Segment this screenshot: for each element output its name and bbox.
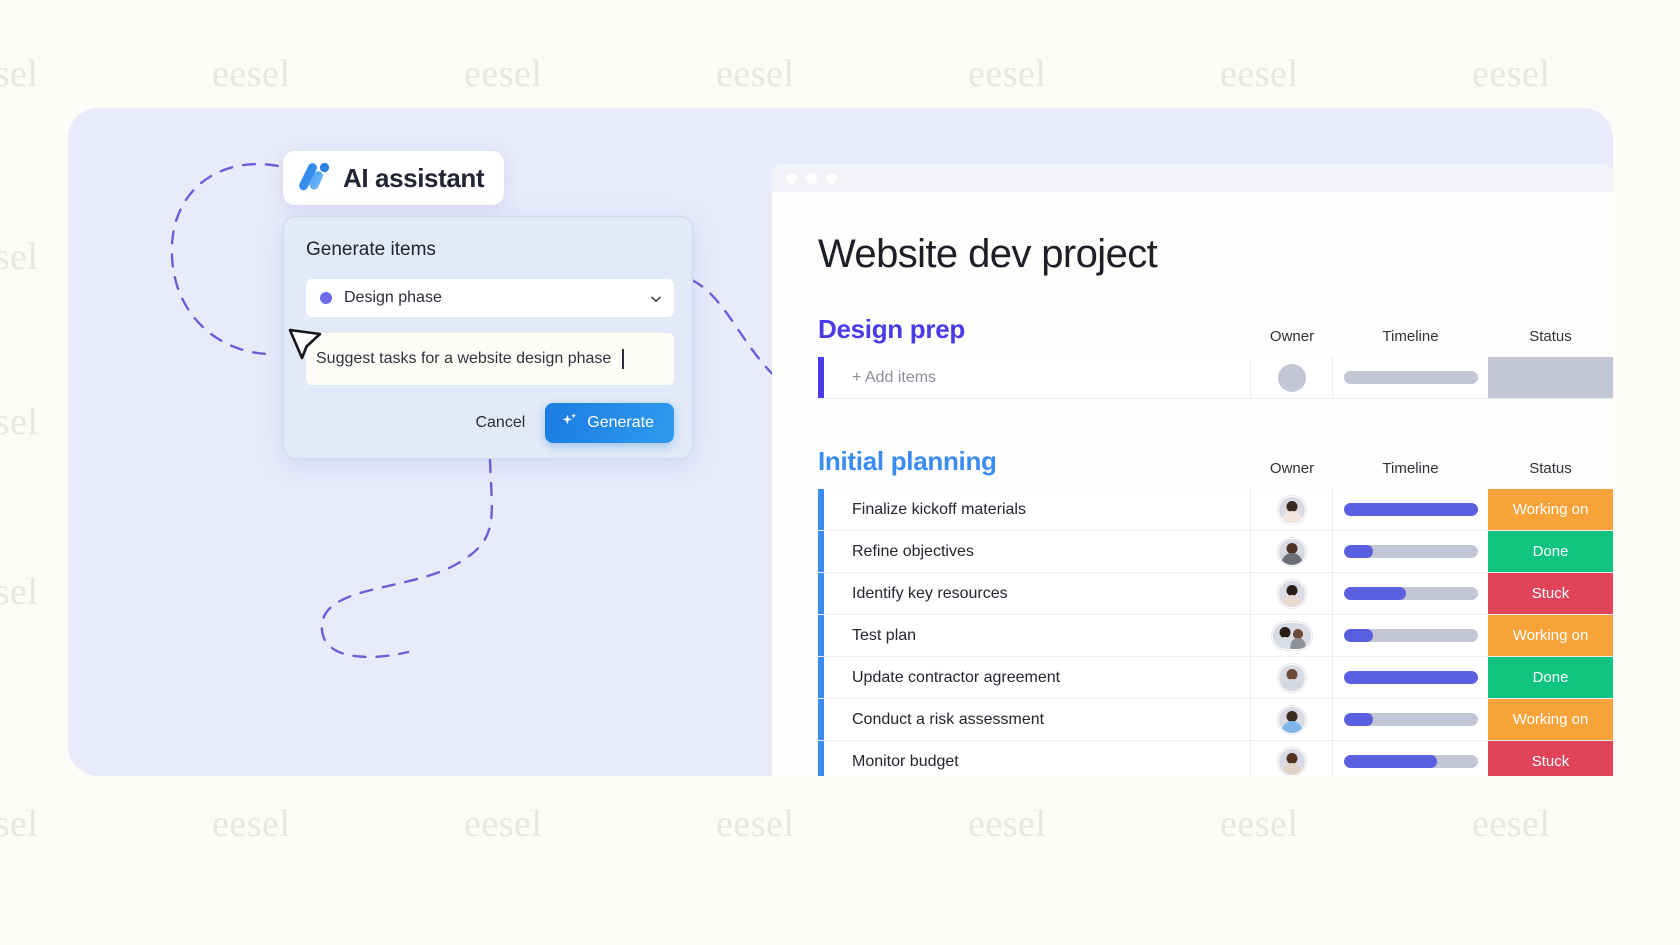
column-header-timeline[interactable]: Timeline <box>1333 328 1488 345</box>
watermark-text: eesel <box>0 400 38 444</box>
column-header-status[interactable]: Status <box>1488 328 1613 345</box>
table-row[interactable]: Refine objectivesDone <box>818 531 1613 573</box>
timeline-track <box>1344 755 1478 768</box>
timeline-track <box>1344 587 1478 600</box>
avatar <box>1278 706 1306 734</box>
watermark-text: eesel <box>464 52 542 96</box>
group-color-dot <box>320 292 332 304</box>
owner-cell[interactable] <box>1251 699 1333 740</box>
column-header-owner[interactable]: Owner <box>1251 328 1333 345</box>
panel-actions: Cancel Generate <box>306 403 674 443</box>
watermark-text: eesel <box>968 802 1046 846</box>
task-name[interactable]: Update contractor agreement <box>824 657 1251 698</box>
page-title: Website dev project <box>818 232 1613 277</box>
project-board-window: Website dev project Design prepOwnerTime… <box>772 164 1613 776</box>
watermark-text: eesel <box>0 570 38 614</box>
watermark-text: eesel <box>716 52 794 96</box>
timeline-cell[interactable] <box>1333 699 1488 740</box>
status-badge[interactable]: Working on <box>1488 699 1613 740</box>
window-dot-minimize-icon[interactable] <box>806 173 817 184</box>
avatar <box>1278 496 1306 524</box>
window-dot-maximize-icon[interactable] <box>826 173 837 184</box>
group-select-value: Design phase <box>344 289 638 307</box>
status-badge[interactable]: Working on <box>1488 615 1613 656</box>
table-row[interactable]: + Add items <box>818 357 1613 399</box>
timeline-cell[interactable] <box>1333 489 1488 530</box>
board-group: Initial planningOwnerTimelineStatusFinal… <box>818 447 1613 776</box>
owner-cell[interactable] <box>1251 657 1333 698</box>
group-header: Initial planningOwnerTimelineStatus <box>818 447 1613 477</box>
prompt-input-value: Suggest tasks for a website design phase <box>316 350 611 368</box>
watermark-text: eesel <box>968 52 1046 96</box>
watermark-text: eesel <box>0 52 38 96</box>
table-row[interactable]: Conduct a risk assessmentWorking on <box>818 699 1613 741</box>
table-row[interactable]: Update contractor agreementDone <box>818 657 1613 699</box>
watermark-text: eesel <box>1220 802 1298 846</box>
status-badge[interactable]: Done <box>1488 657 1613 698</box>
watermark-text: eesel <box>0 802 38 846</box>
avatar <box>1278 748 1306 776</box>
text-caret <box>622 349 624 369</box>
timeline-cell[interactable] <box>1333 657 1488 698</box>
group-name[interactable]: Initial planning <box>818 446 997 477</box>
task-name[interactable]: Identify key resources <box>824 573 1251 614</box>
generate-button-label: Generate <box>587 414 654 432</box>
watermark-text: eesel <box>212 52 290 96</box>
avatar <box>1278 538 1306 566</box>
window-dot-close-icon[interactable] <box>786 173 797 184</box>
add-items-button[interactable]: + Add items <box>824 357 1251 398</box>
watermark-text: eesel <box>212 802 290 846</box>
group-header: Design prepOwnerTimelineStatus <box>818 315 1613 345</box>
table-row[interactable]: Monitor budgetStuck <box>818 741 1613 776</box>
avatar <box>1272 622 1312 650</box>
generate-button[interactable]: Generate <box>545 403 674 443</box>
watermark-text: eesel <box>0 235 38 279</box>
generate-items-panel: Generate items Design phase Suggest task… <box>283 216 693 459</box>
timeline-fill <box>1344 503 1478 516</box>
groups-container: Design prepOwnerTimelineStatus+ Add item… <box>818 315 1613 776</box>
status-badge[interactable] <box>1488 357 1613 398</box>
ai-assistant-pill: AI assistant <box>283 151 504 205</box>
chevron-down-icon <box>650 292 662 304</box>
watermark-text: eesel <box>464 802 542 846</box>
timeline-track <box>1344 671 1478 684</box>
watermark-text: eesel <box>716 802 794 846</box>
task-name[interactable]: Conduct a risk assessment <box>824 699 1251 740</box>
timeline-track <box>1344 503 1478 516</box>
prompt-input[interactable]: Suggest tasks for a website design phase <box>306 333 674 385</box>
watermark-text: eesel <box>1220 52 1298 96</box>
owner-cell[interactable] <box>1251 357 1333 398</box>
owner-cell[interactable] <box>1251 615 1333 656</box>
status-badge[interactable]: Stuck <box>1488 573 1613 614</box>
watermark-text: eesel <box>1472 802 1550 846</box>
timeline-cell[interactable] <box>1333 531 1488 572</box>
status-badge[interactable]: Stuck <box>1488 741 1613 776</box>
owner-cell[interactable] <box>1251 573 1333 614</box>
cancel-button[interactable]: Cancel <box>471 408 529 438</box>
table-row[interactable]: Test planWorking on <box>818 615 1613 657</box>
timeline-fill <box>1344 755 1438 768</box>
timeline-cell[interactable] <box>1333 615 1488 656</box>
watermark-text: eesel <box>1472 52 1550 96</box>
timeline-cell[interactable] <box>1333 357 1488 398</box>
window-titlebar <box>772 164 1613 192</box>
status-badge[interactable]: Done <box>1488 531 1613 572</box>
owner-cell[interactable] <box>1251 489 1333 530</box>
timeline-track <box>1344 629 1478 642</box>
avatar <box>1278 580 1306 608</box>
empty-avatar <box>1278 364 1306 392</box>
board-group: Design prepOwnerTimelineStatus+ Add item… <box>818 315 1613 399</box>
task-name[interactable]: Refine objectives <box>824 531 1251 572</box>
monday-ai-logo-icon <box>297 160 331 197</box>
owner-cell[interactable] <box>1251 531 1333 572</box>
timeline-track <box>1344 371 1478 384</box>
panel-title: Generate items <box>306 239 674 261</box>
timeline-track <box>1344 713 1478 726</box>
group-name[interactable]: Design prep <box>818 314 965 345</box>
timeline-fill <box>1344 629 1373 642</box>
timeline-fill <box>1344 713 1373 726</box>
column-header-status[interactable]: Status <box>1488 460 1613 477</box>
timeline-cell[interactable] <box>1333 573 1488 614</box>
timeline-track <box>1344 545 1478 558</box>
owner-cell[interactable] <box>1251 741 1333 776</box>
board-body: Website dev project Design prepOwnerTime… <box>772 192 1613 776</box>
ai-assistant-label: AI assistant <box>343 163 484 194</box>
bottom-fade-overlay <box>0 889 1680 945</box>
column-header-owner[interactable]: Owner <box>1251 460 1333 477</box>
table-row[interactable]: Identify key resourcesStuck <box>818 573 1613 615</box>
task-name[interactable]: Monitor budget <box>824 741 1251 776</box>
mouse-cursor-icon <box>284 318 328 367</box>
timeline-fill <box>1344 545 1373 558</box>
sparkle-icon <box>561 412 578 434</box>
avatar <box>1278 664 1306 692</box>
task-name[interactable]: Finalize kickoff materials <box>824 489 1251 530</box>
column-header-timeline[interactable]: Timeline <box>1333 460 1488 477</box>
status-badge[interactable]: Working on <box>1488 489 1613 530</box>
timeline-fill <box>1344 587 1407 600</box>
group-select-dropdown[interactable]: Design phase <box>306 279 674 317</box>
task-name[interactable]: Test plan <box>824 615 1251 656</box>
table-row[interactable]: Finalize kickoff materialsWorking on <box>818 489 1613 531</box>
timeline-fill <box>1344 671 1478 684</box>
timeline-cell[interactable] <box>1333 741 1488 776</box>
